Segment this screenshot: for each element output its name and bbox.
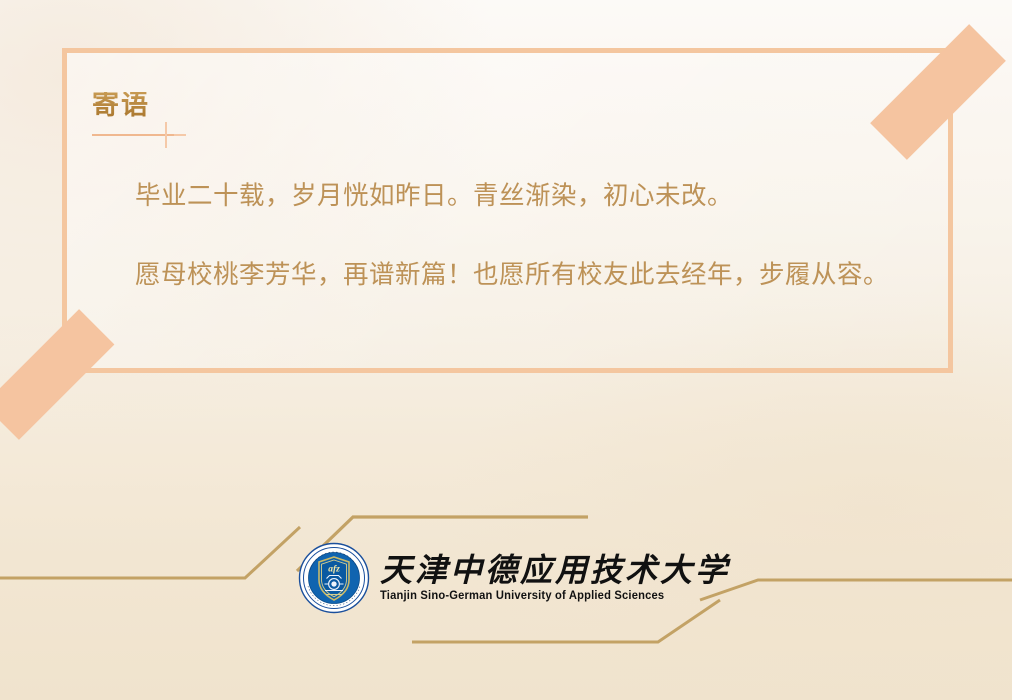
card-body: 毕业二十载，岁月恍如昨日。青丝渐染，初心未改。 愿母校桃李芳华，再谱新篇！也愿所…: [84, 176, 934, 297]
university-logo: afz 天津中德应用技术大学 Tianjin Sino-German Unive…: [298, 542, 718, 614]
slide-root: 寄语 毕业二十载，岁月恍如昨日。青丝渐染，初心未改。 愿母校桃李芳华，再谱新篇！…: [0, 0, 1012, 700]
university-name-en: Tianjin Sino-German University of Applie…: [380, 590, 720, 602]
title-underline-cross-icon: [165, 122, 167, 148]
ribbon-line-mid-right: [700, 580, 1012, 600]
paragraph-1: 毕业二十载，岁月恍如昨日。青丝渐染，初心未改。: [84, 176, 934, 217]
university-emblem-icon: afz: [298, 542, 370, 614]
university-wordmark: 天津中德应用技术大学 Tianjin Sino-German Universit…: [380, 554, 730, 603]
diagonal-tile-bottom-left-icon: [0, 309, 114, 440]
card-title-block: 寄语: [92, 92, 150, 119]
ribbon-line-mid-left: [0, 527, 300, 578]
svg-text:afz: afz: [328, 565, 340, 575]
university-name-cn: 天津中德应用技术大学: [380, 554, 730, 588]
paragraph-2: 愿母校桃李芳华，再谱新篇！也愿所有校友此去经年，步履从容。: [84, 255, 934, 296]
page-title: 寄语: [92, 92, 150, 119]
title-underline: [92, 134, 174, 136]
title-underline-tail: [174, 134, 186, 136]
